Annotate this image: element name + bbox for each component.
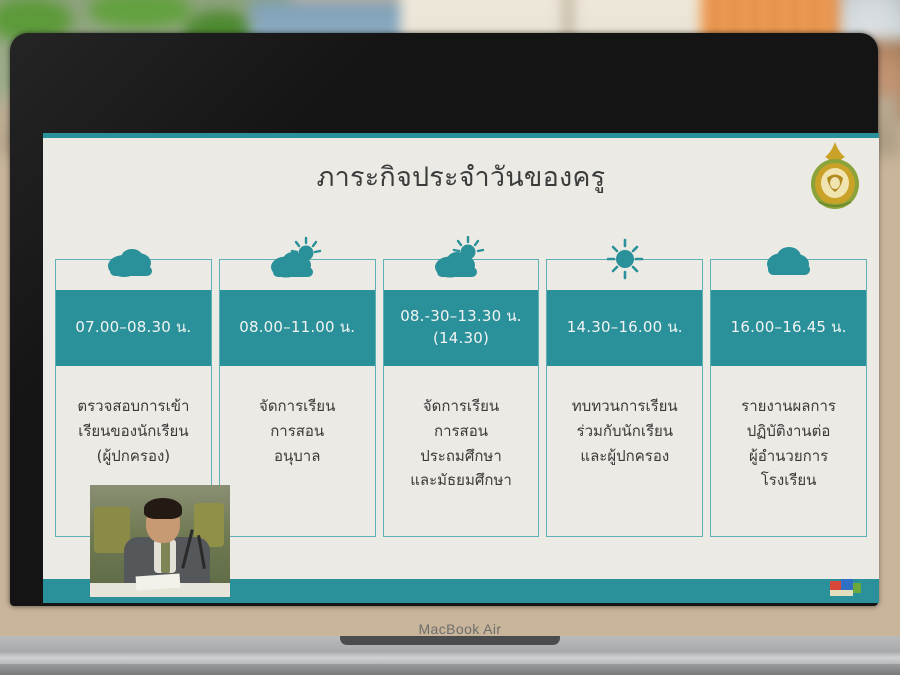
schedule-card[interactable]: 16.00–16.45 น. รายงานผลการ ปฏิบัติงานต่อ… [710, 259, 867, 537]
card-task-line: จัดการเรียน [423, 394, 499, 419]
card-task-block: จัดการเรียน การสอน อนุบาล [220, 366, 375, 536]
speaker-video-thumbnail[interactable] [90, 485, 230, 597]
card-task-line: เรียนของนักเรียน [78, 419, 188, 444]
card-task-line: รายงานผลการ [741, 394, 836, 419]
card-task-line: ตรวจสอบการเข้า [77, 394, 189, 419]
card-task-block: จัดการเรียน การสอน ประถมศึกษา และมัธยมศึ… [384, 366, 539, 536]
card-time-block: 14.30–16.00 น. [547, 290, 702, 366]
laptop-base-edge [0, 664, 900, 675]
thai-ministry-of-education-emblem-icon [807, 140, 863, 212]
card-task-block: ทบทวนการเรียน ร่วมกับนักเรียน และผู้ปกคร… [547, 366, 702, 536]
card-task-line: ผู้อำนวยการ [749, 444, 828, 469]
card-time-block: 16.00–16.45 น. [711, 290, 866, 366]
sun-behind-cloud-icon [430, 236, 492, 282]
card-task-line: โรงเรียน [761, 468, 817, 493]
slide-title: ภาระกิจประจำวันของครู [43, 155, 879, 198]
laptop-base-notch [340, 636, 560, 645]
schedule-card[interactable]: 08.00–11.00 น. จัดการเรียน การสอน อนุบาล [219, 259, 376, 537]
presentation-slide[interactable]: ภาระกิจประจำวันของครู [43, 133, 879, 603]
sun-behind-cloud-icon [266, 236, 328, 282]
slide-top-accent-band [43, 133, 879, 138]
card-task-line: และผู้ปกครอง [580, 444, 669, 469]
card-time-block: 07.00–08.30 น. [56, 290, 211, 366]
card-task-line: ทบทวนการเรียน [572, 394, 678, 419]
card-time-line: (14.30) [433, 328, 489, 350]
cloud-icon [102, 236, 164, 282]
cloud-icon [758, 236, 820, 282]
card-task-line: ประถมศึกษา [420, 444, 502, 469]
card-time-line: 08.00–11.00 น. [239, 317, 355, 339]
card-time-block: 08.00–11.00 น. [220, 290, 375, 366]
card-task-line: การสอน [434, 419, 488, 444]
schedule-card[interactable]: 14.30–16.00 น. ทบทวนการเรียน ร่วมกับนักเ… [546, 259, 703, 537]
schedule-card[interactable]: 08.-30–13.30 น. (14.30) จัดการเรียน การส… [383, 259, 540, 537]
card-task-line: จัดการเรียน [259, 394, 335, 419]
card-task-line: อนุบาล [274, 444, 320, 469]
card-time-line: 16.00–16.45 น. [731, 317, 847, 339]
card-task-line: การสอน [270, 419, 324, 444]
video-speaker-tie [161, 541, 170, 573]
card-time-line: 08.-30–13.30 น. [400, 306, 522, 328]
video-speaker-hair [144, 498, 182, 519]
channel-watermark [829, 578, 863, 600]
laptop-lid: ภาระกิจประจำวันของครู [10, 33, 878, 606]
macbook-air-label: MacBook Air [10, 621, 900, 637]
card-task-line: และมัธยมศึกษา [410, 468, 512, 493]
card-task-block: รายงานผลการ ปฏิบัติงานต่อ ผู้อำนวยการ โร… [711, 366, 866, 536]
card-task-line: ร่วมกับนักเรียน [577, 419, 674, 444]
card-time-line: 14.30–16.00 น. [567, 317, 683, 339]
card-task-line: (ผู้ปกครอง) [97, 444, 171, 469]
card-time-line: 07.00–08.30 น. [75, 317, 191, 339]
card-task-line: ปฏิบัติงานต่อ [747, 419, 831, 444]
card-time-block: 08.-30–13.30 น. (14.30) [384, 290, 539, 366]
sun-icon [594, 236, 656, 282]
